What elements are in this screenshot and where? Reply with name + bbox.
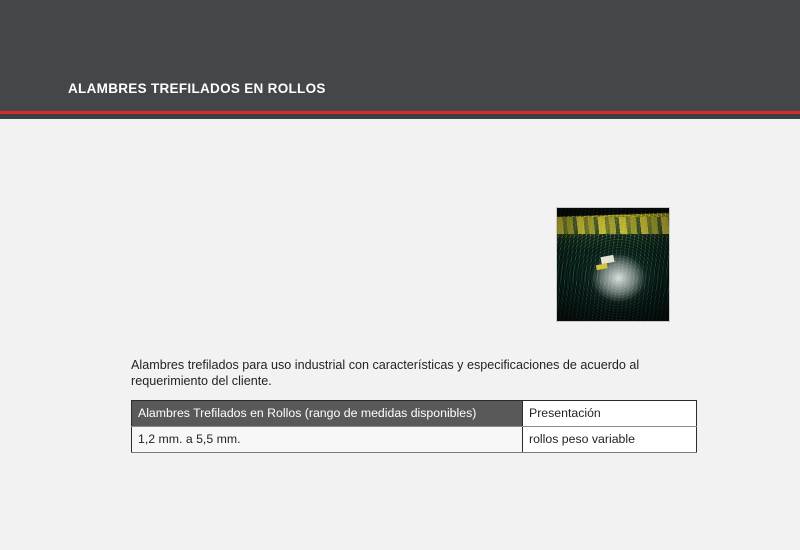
page-title: ALAMBRES TREFILADOS EN ROLLOS — [68, 81, 326, 96]
specification-table: Alambres Trefilados en Rollos (rango de … — [131, 400, 697, 453]
wire-coils-photo — [556, 207, 670, 322]
wire-coils-photo-vignette — [557, 208, 669, 321]
content-area: Alambres trefilados para uso industrial … — [0, 119, 800, 550]
table-header-cell-range: Alambres Trefilados en Rollos (rango de … — [132, 401, 523, 427]
product-description: Alambres trefilados para uso industrial … — [131, 357, 671, 390]
table-cell-range-value: 1,2 mm. a 5,5 mm. — [132, 427, 523, 453]
table-row: 1,2 mm. a 5,5 mm. rollos peso variable — [132, 427, 697, 453]
table-header-row: Alambres Trefilados en Rollos (rango de … — [132, 401, 697, 427]
table-cell-presentation-value: rollos peso variable — [523, 427, 697, 453]
table-header-cell-presentation: Presentación — [523, 401, 697, 427]
